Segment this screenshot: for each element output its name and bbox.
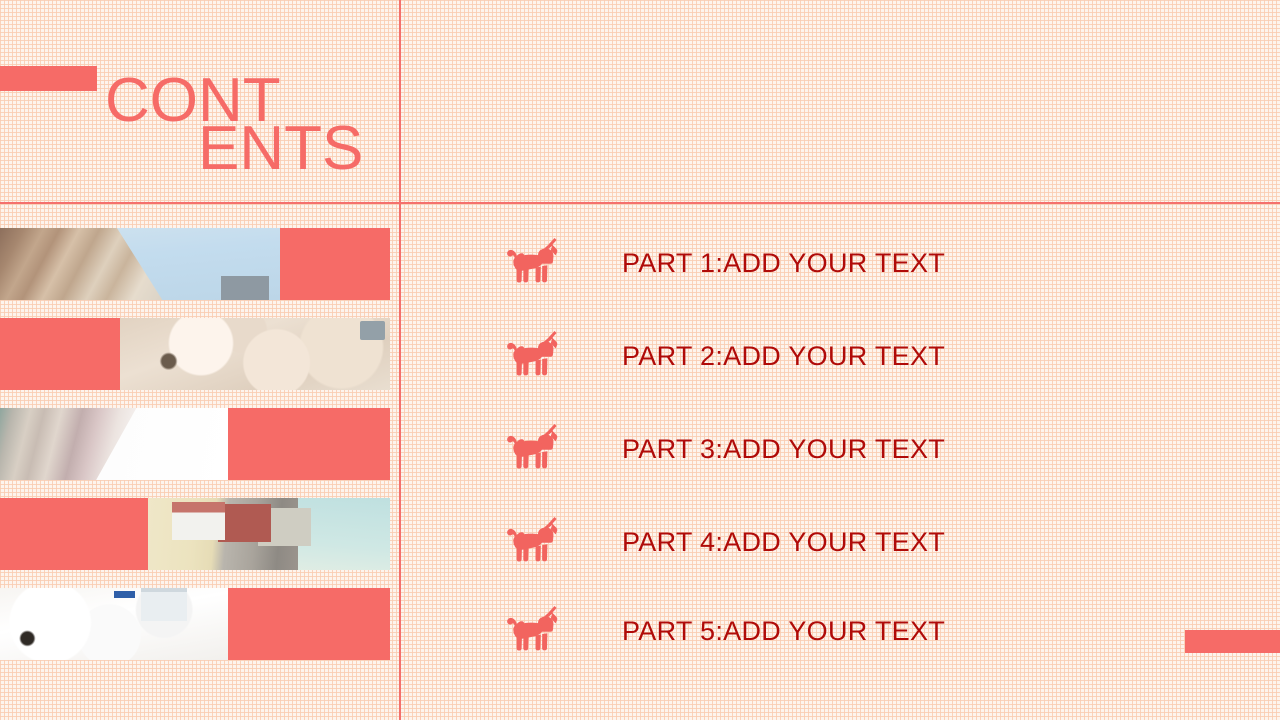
thumbnail-row[interactable] — [0, 228, 390, 300]
thumbnail-row[interactable] — [0, 498, 390, 570]
thumbnail-swatch — [228, 408, 390, 480]
contents-item-1[interactable]: PART 1:ADD YOUR TEXT — [400, 232, 1280, 294]
thumbnail-swatch — [0, 498, 148, 570]
thumbnail-row[interactable] — [0, 588, 390, 660]
dog-with-leash-icon — [506, 422, 562, 476]
thumbnail-photo-white-blossom — [0, 588, 228, 660]
slide-canvas: CONT ENTS — [0, 0, 1280, 720]
contents-list: PART 1:ADD YOUR TEXT — [400, 204, 1280, 720]
contents-item-label: PART 1:ADD YOUR TEXT — [622, 232, 945, 294]
page-title-line-2: ENTS — [198, 120, 363, 178]
accent-bar-bottom-right — [1185, 630, 1280, 653]
thumbnail-photo-cherry-blossom — [120, 318, 390, 390]
thumbnail-row[interactable] — [0, 408, 390, 480]
thumbnail-row[interactable] — [0, 318, 390, 390]
thumbnail-swatch — [280, 228, 390, 300]
dog-with-leash-icon — [506, 329, 562, 383]
contents-item-4[interactable]: PART 4:ADD YOUR TEXT — [400, 511, 1280, 573]
page-title: CONT ENTS — [0, 46, 400, 196]
thumbnail-photo-brick-building — [0, 228, 280, 300]
contents-item-2[interactable]: PART 2:ADD YOUR TEXT — [400, 325, 1280, 387]
contents-item-3[interactable]: PART 3:ADD YOUR TEXT — [400, 418, 1280, 480]
contents-item-label: PART 2:ADD YOUR TEXT — [622, 325, 945, 387]
dog-with-leash-icon — [506, 604, 562, 658]
thumbnail-swatch — [0, 318, 120, 390]
contents-item-label: PART 4:ADD YOUR TEXT — [622, 511, 945, 573]
contents-item-5[interactable]: PART 5:ADD YOUR TEXT — [400, 600, 1280, 662]
thumbnail-photo-stone-wall — [0, 408, 228, 480]
photo-sign-detail — [114, 591, 135, 598]
dog-with-leash-icon — [506, 236, 562, 290]
thumbnail-stack — [0, 228, 390, 678]
contents-item-label: PART 5:ADD YOUR TEXT — [622, 600, 945, 662]
dog-with-leash-icon — [506, 515, 562, 569]
thumbnail-photo-european-house — [148, 498, 390, 570]
thumbnail-swatch — [228, 588, 390, 660]
contents-item-label: PART 3:ADD YOUR TEXT — [622, 418, 945, 480]
